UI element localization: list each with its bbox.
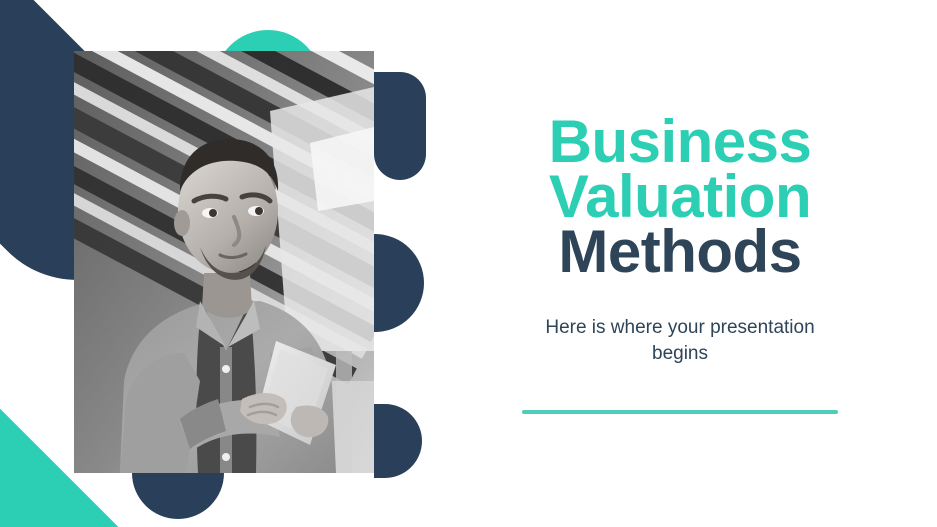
title-line-3: Methods	[549, 224, 812, 279]
navy-half-disc-right-bottom-shape	[374, 404, 422, 478]
hero-photo	[74, 51, 374, 473]
title-column: Business Valuation Methods Here is where…	[470, 0, 890, 527]
navy-half-disc-right-lower-shape	[374, 234, 424, 332]
hero-photo-image	[74, 51, 374, 473]
navy-semicircle-below-photo-shape	[132, 473, 224, 519]
navy-teardrop-right-upper-shape	[374, 72, 426, 180]
slide-title: Business Valuation Methods	[549, 114, 812, 280]
title-line-2: Valuation	[549, 169, 812, 224]
title-line-1: Business	[549, 114, 812, 169]
presentation-slide: Business Valuation Methods Here is where…	[0, 0, 937, 527]
slide-subtitle: Here is where your presentation begins	[515, 315, 845, 367]
accent-rule	[522, 410, 838, 414]
